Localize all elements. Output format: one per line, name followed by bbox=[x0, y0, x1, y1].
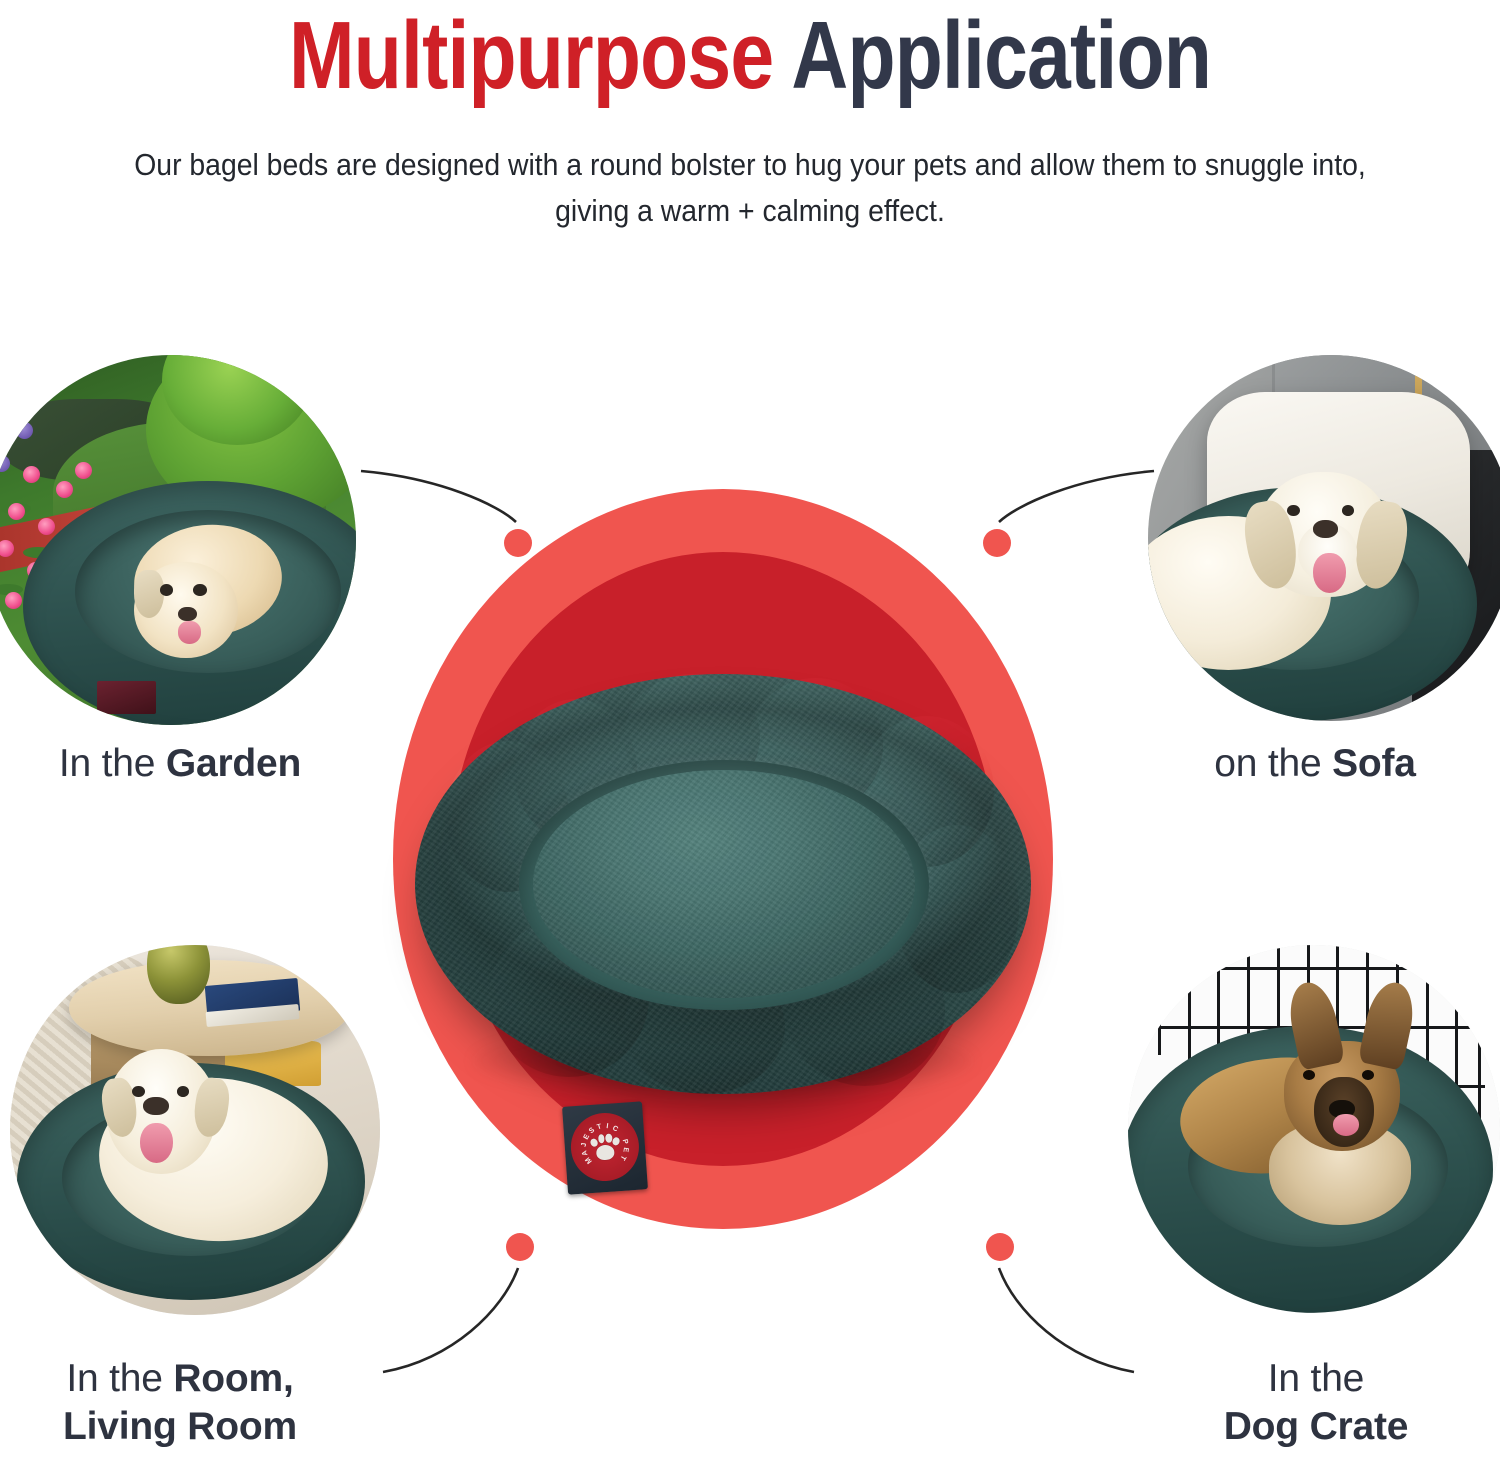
page-title: Multipurpose Application bbox=[135, 0, 1365, 104]
center-product-graphic: MAJESTIC PET bbox=[393, 489, 1053, 1229]
caption-garden-regular: In the bbox=[59, 742, 166, 785]
connector-dot-room bbox=[506, 1233, 534, 1261]
caption-sofa-bold: Sofa bbox=[1332, 742, 1416, 785]
photo-circle-sofa bbox=[1148, 355, 1500, 721]
caption-room-bold-line2: Living Room bbox=[63, 1405, 297, 1448]
title-part-application: Application bbox=[791, 2, 1211, 109]
product-brand-tag: MAJESTIC PET bbox=[562, 1101, 648, 1194]
caption-garden: In the Garden bbox=[0, 740, 360, 788]
title-part-multipurpose: Multipurpose bbox=[289, 2, 773, 109]
caption-sofa-regular: on the bbox=[1214, 742, 1332, 785]
caption-living-room: In the Room, Living Room bbox=[0, 1355, 360, 1450]
product-bagel-bed: MAJESTIC PET bbox=[415, 674, 1031, 1094]
photo-circle-garden bbox=[0, 355, 356, 725]
caption-garden-bold: Garden bbox=[166, 742, 301, 785]
caption-dog-crate: In the Dog Crate bbox=[1140, 1355, 1492, 1450]
caption-room-regular: In the bbox=[66, 1357, 173, 1400]
connector-dot-crate bbox=[986, 1233, 1014, 1261]
caption-room-bold: Room, bbox=[173, 1357, 293, 1400]
photo-circle-dog-crate bbox=[1128, 945, 1500, 1313]
caption-crate-bold-line2: Dog Crate bbox=[1224, 1405, 1409, 1448]
connector-line-room bbox=[383, 1268, 518, 1372]
majestic-pet-badge: MAJESTIC PET bbox=[569, 1111, 642, 1184]
connector-line-crate bbox=[999, 1268, 1134, 1372]
photo-circle-living-room bbox=[10, 945, 380, 1315]
brand-tag-text: MAJESTIC PET bbox=[569, 1111, 642, 1184]
caption-sofa: on the Sofa bbox=[1140, 740, 1490, 788]
caption-crate-regular: In the bbox=[1268, 1357, 1364, 1400]
page-subtitle: Our bagel beds are designed with a round… bbox=[99, 142, 1401, 235]
header: Multipurpose Application Our bagel beds … bbox=[0, 0, 1500, 235]
